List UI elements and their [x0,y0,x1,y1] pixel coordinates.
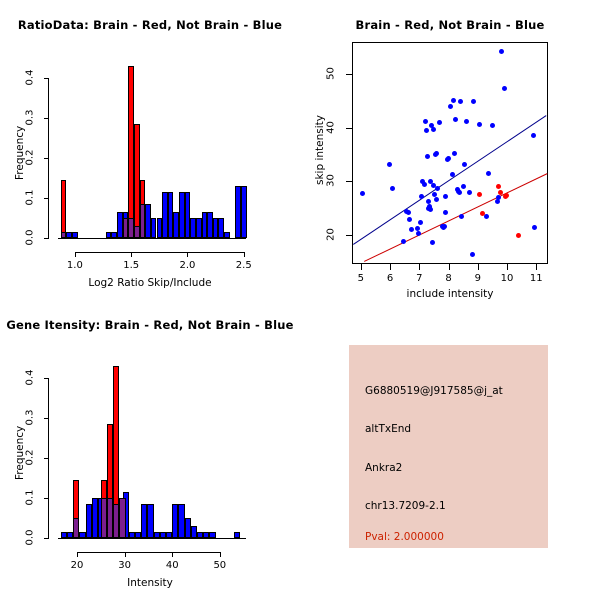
x-tick-label: 50 [200,560,240,571]
y-tick-mark [346,181,352,182]
scatter-point-not-brain [401,239,406,244]
histogram-bar-overlap [140,204,146,238]
y-tick-label: 20 [326,223,337,245]
y-tick-label: 40 [326,116,337,138]
scatter-plot-area: 20304050567891011 [300,0,600,300]
scatter-point-brain [477,192,482,197]
scatter-point-not-brain [443,210,448,215]
scatter-point-not-brain [409,227,414,232]
histogram-bar-not-brain [209,532,215,538]
panel-gene-intensity-histogram: Gene Itensity: Brain - Red, Not Brain - … [0,300,300,600]
panel-ratio-histogram: RatioData: Brain - Red, Not Brain - Blue… [0,0,300,300]
x-tick-mark [419,264,420,270]
histogram-baseline [58,238,246,239]
x-tick-mark [244,252,245,257]
x-tick-mark [172,552,173,557]
gene-info-box: G6880519@J917585@j_at altTxEnd Ankra2 ch… [349,345,548,548]
scatter-point-not-brain [430,240,435,245]
y-tick-mark [44,498,49,499]
x-tick-mark [361,264,362,270]
scatter-point-not-brain [390,186,395,191]
x-axis-line [77,552,220,553]
y-tick-mark [44,118,49,119]
x-tick-label: 2.0 [167,260,207,271]
y-tick-mark [44,238,49,239]
x-tick-mark [131,252,132,257]
y-tick-label: 0.0 [25,526,36,550]
panel-gene-info: G6880519@J917585@j_at altTxEnd Ankra2 ch… [300,300,600,600]
scatter-point-not-brain [450,172,455,177]
scatter-point-not-brain [457,190,462,195]
scatter-point-not-brain [406,210,411,215]
scatter-point-not-brain [415,226,420,231]
y-tick-mark [346,235,352,236]
y-tick-mark [44,538,49,539]
y-tick-mark [346,128,352,129]
y-tick-mark [44,418,49,419]
scatter-point-not-brain [448,104,453,109]
scatter-point-not-brain [435,186,440,191]
y-tick-mark [44,198,49,199]
x-tick-mark [75,252,76,257]
y-tick-label: 0.2 [25,146,36,170]
scatter-point-not-brain [425,154,430,159]
y-tick-label: 0.4 [25,366,36,390]
x-tick-label: 1.5 [111,260,151,271]
probe-id-text: G6880519@J917585@j_at [365,385,503,397]
x-tick-mark [390,264,391,270]
histogram-bar-brain [61,180,67,238]
scatter-point-not-brain [437,120,442,125]
gene-symbol-text: Ankra2 [365,462,402,474]
scatter-point-not-brain [442,224,447,229]
histogram-bar-overlap [73,518,79,538]
x-tick-mark [478,264,479,270]
y-tick-label: 0.1 [25,186,36,210]
scatter-point-not-brain [423,119,428,124]
scatter-point-not-brain [428,207,433,212]
scatter-point-not-brain [499,49,504,54]
y-tick-label: 50 [326,63,337,85]
y-tick-mark [44,78,49,79]
x-tick-label: 1.0 [55,260,95,271]
pval-text: Pval: 2.000000 [365,531,444,543]
histogram-bar-overlap [61,232,67,238]
y-tick-label: 0.3 [25,406,36,430]
scatter-frame [352,42,548,264]
ratio-histogram-plot-area: 0.00.10.20.30.41.01.52.02.5 [0,0,300,300]
histogram-baseline [58,538,246,539]
y-tick-mark [44,378,49,379]
histogram-bar-not-brain [241,186,247,238]
scatter-point-not-brain [419,194,424,199]
x-tick-label: 2.5 [224,260,264,271]
scatter-point-not-brain [471,99,476,104]
scatter-point-not-brain [531,133,536,138]
histogram-bar-overlap [119,498,125,538]
histogram-bar-not-brain [234,532,240,538]
y-tick-label: 0.4 [25,66,36,90]
y-tick-mark [44,158,49,159]
scatter-point-not-brain [461,184,466,189]
scatter-point-brain [480,211,485,216]
y-tick-label: 0.0 [25,226,36,250]
histogram-bar-not-brain [224,232,230,238]
x-tick-mark [77,552,78,557]
scatter-point-brain [504,193,509,198]
x-axis-line [75,252,244,253]
scatter-point-not-brain [486,171,491,176]
locus-text: chr13.7209-2.1 [365,500,446,512]
x-tick-mark [507,264,508,270]
x-tick-mark [220,552,221,557]
x-tick-label: 40 [152,560,192,571]
scatter-point-brain [498,190,503,195]
r-plot-canvas: RatioData: Brain - Red, Not Brain - Blue… [0,0,600,600]
x-tick-mark [187,252,188,257]
scatter-point-not-brain [502,86,507,91]
scatter-point-not-brain [424,128,429,133]
scatter-point-not-brain [532,225,537,230]
y-tick-label: 30 [326,170,337,192]
x-tick-mark [536,264,537,270]
scatter-point-not-brain [484,214,489,219]
x-tick-mark [449,264,450,270]
histogram-bar-not-brain [72,232,78,238]
x-tick-label: 30 [105,560,145,571]
x-tick-mark [125,552,126,557]
y-tick-mark [346,74,352,75]
y-tick-label: 0.1 [25,486,36,510]
x-tick-label: 20 [57,560,97,571]
scatter-point-not-brain [387,162,392,167]
panel-intensity-scatter: Brain - Red, Not Brain - Blue skip inten… [300,0,600,300]
x-tick-label: 11 [516,273,556,284]
event-type-text: altTxEnd [365,423,411,435]
y-tick-label: 0.3 [25,106,36,130]
y-tick-label: 0.2 [25,446,36,470]
gene-histogram-plot-area: 0.00.10.20.30.420304050 [0,300,300,600]
y-tick-mark [44,458,49,459]
